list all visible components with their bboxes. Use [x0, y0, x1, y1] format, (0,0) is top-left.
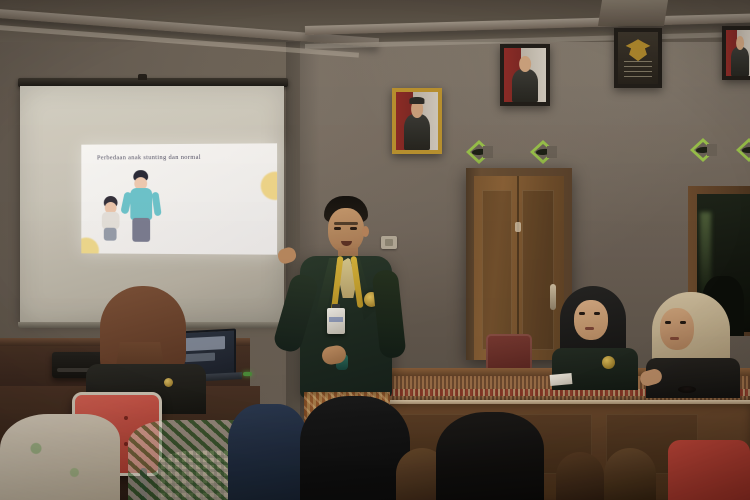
presenter-eye: [350, 227, 357, 230]
floral-scarf-attendee: [0, 414, 120, 500]
eye: [665, 321, 671, 324]
portrait-figure: [512, 69, 539, 102]
portrait-figure: [731, 47, 749, 76]
slide-title: Perbedaan anak stunting dan normal: [97, 154, 201, 162]
garuda-emblem-frame: [614, 28, 662, 88]
door-panel-left: [482, 190, 512, 350]
navy-hijab-attendee: [228, 404, 308, 500]
slide-child-stunting: [101, 196, 125, 242]
slide-child-normal: [126, 170, 156, 244]
governor-portrait-frame: [392, 88, 442, 154]
photo-scene: Perbedaan anak stunting dan normal: [0, 0, 750, 500]
presenter-ear: [362, 226, 369, 237]
power-indicator-icon: [243, 372, 252, 376]
mouth: [670, 337, 679, 340]
presenter-id-badge: [327, 308, 345, 334]
mouth: [585, 327, 594, 330]
woman-brown-hijab: [86, 286, 206, 404]
chair-tuft: [124, 416, 128, 420]
child-arm-right: [151, 192, 161, 217]
dark-silhouette-attendee: [300, 396, 410, 500]
green-diamond-decal-icon: [736, 138, 750, 162]
child-legs: [132, 218, 150, 242]
red-chair-right[interactable]: [668, 440, 750, 500]
eye: [594, 312, 600, 315]
portrait-head: [519, 56, 531, 72]
presenter-eye: [334, 227, 341, 230]
door-seam: [517, 176, 519, 360]
face: [660, 308, 694, 350]
cup-on-table: [678, 386, 696, 393]
green-diamond-decal-icon: [690, 138, 716, 162]
garuda-text-lines: [624, 61, 653, 78]
brooch-icon: [164, 378, 173, 387]
dark-silhouette-attendee: [436, 412, 544, 500]
slide-accent-circle-bottom: [81, 237, 99, 254]
child-head-right: [556, 452, 604, 500]
presenter-brow: [334, 222, 358, 225]
door-latch-icon: [515, 222, 521, 232]
portrait-figure: [404, 114, 431, 150]
child-body: [130, 188, 152, 220]
woman-beige-hijab: [646, 292, 740, 396]
paper-sheet: [550, 373, 573, 386]
ceiling-beam: [598, 0, 668, 26]
eye: [579, 312, 585, 315]
child-legs: [104, 228, 117, 241]
green-diamond-decal-icon: [530, 140, 556, 164]
portrait-head: [736, 36, 744, 50]
projected-slide: Perbedaan anak stunting dan normal: [81, 143, 277, 254]
door-leaf: [474, 176, 564, 360]
eye: [680, 321, 686, 324]
door-panel-right: [522, 190, 554, 350]
face: [574, 300, 608, 340]
portrait-cap-icon: [409, 97, 424, 104]
woman-black-hijab: [552, 286, 638, 386]
slide-accent-circle-right: [261, 172, 277, 200]
president-portrait-frame: [500, 44, 550, 106]
vicepresident-portrait-frame: [722, 26, 750, 80]
child-head-right: [604, 448, 656, 500]
green-diamond-decal-icon: [466, 140, 492, 164]
gold-emblem-pin-icon: [602, 356, 615, 369]
